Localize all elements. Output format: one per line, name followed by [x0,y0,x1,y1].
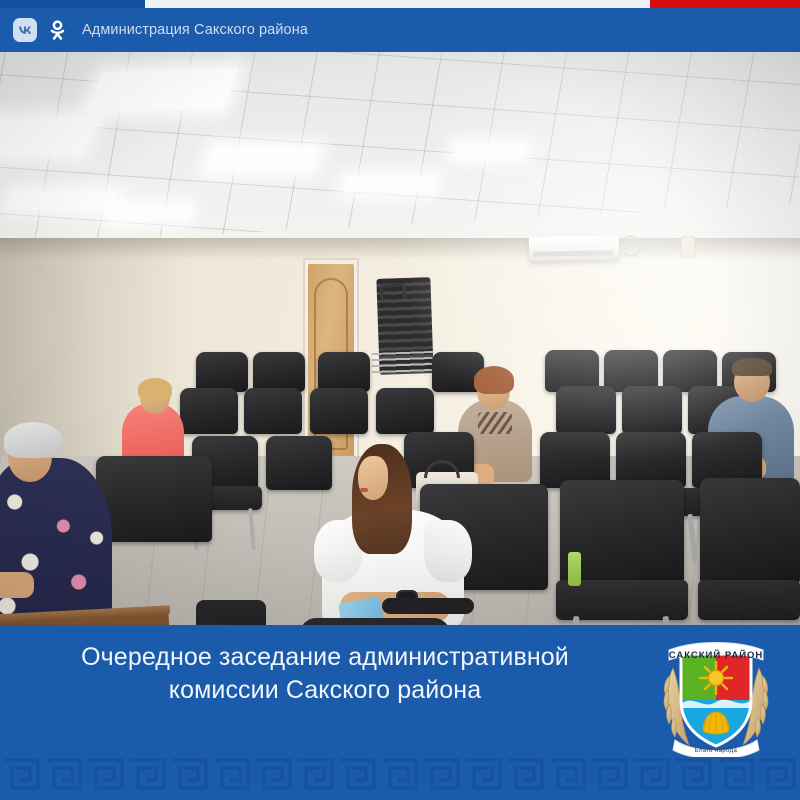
caption-line-1: Очередное заседание административной [22,641,628,674]
ceiling-light-6 [109,207,192,219]
social-media-post-card: Администрация Сакского района [0,0,800,800]
russian-flag-strip [0,0,800,8]
ceiling-light-4 [8,192,118,209]
person-hair [138,378,172,400]
bag-black [196,600,266,625]
shield [681,654,751,750]
chair-back [96,456,212,542]
account-name: Администрация Сакского района [82,22,308,38]
flag-segment-white [145,0,650,8]
flag-segment-blue [0,0,145,8]
chair-back [318,352,370,392]
water-bottle [568,552,581,586]
meeting-photo [0,52,800,625]
ribbon-top-text: САКСКИЙ РАЙОН [669,649,764,661]
chair-armrest [382,598,474,614]
vk-icon[interactable] [13,18,37,42]
person-arm [0,572,34,598]
air-conditioner-pipe [620,235,642,257]
ribbon-bottom-text: Благо народа [695,748,738,754]
chair-back [196,352,248,392]
chair-trolley-handle [379,283,406,301]
stacked-chairs-legs [372,351,435,377]
chair-back [180,388,238,434]
air-conditioner [529,235,619,261]
chair-seat [698,580,800,620]
person-face [358,456,388,500]
chair-back [266,436,332,490]
chair-seat [556,580,688,620]
person-hair [732,358,772,376]
ceiling-light-3 [206,147,319,171]
ribbon-top: САКСКИЙ РАЙОН [669,643,764,662]
chair-back [622,386,682,434]
person-necklace [478,412,512,434]
person-elderly-woman-floral-dress [0,458,112,625]
ceiling-light-7 [454,145,527,158]
chair-back [376,388,434,434]
chair-back [244,388,302,434]
chair-back [253,352,305,392]
caption-text: Очередное заседание административной ком… [22,641,628,708]
chair-back [556,386,616,434]
coat-of-arms-saki-district: САКСКИЙ РАЙОН Благо народа [655,628,777,760]
ceiling-light-1 [86,68,239,113]
caption-line-2: комиссии Сакского района [22,674,628,707]
ok-icon[interactable] [45,18,69,42]
flag-segment-red [650,0,800,8]
post-header: Администрация Сакского района [0,8,800,52]
person-lips [360,488,368,492]
blouse-sleeve-right [424,520,472,582]
person-hair-grey [4,422,62,458]
ceiling-light-5 [343,177,437,192]
wall-vent [681,236,695,258]
chair-back [310,388,368,434]
sun-emblem [700,662,732,694]
greek-key-pattern [0,757,800,791]
person-hair [474,366,514,394]
chair-back [700,478,800,584]
person-legs-dark [300,618,450,625]
